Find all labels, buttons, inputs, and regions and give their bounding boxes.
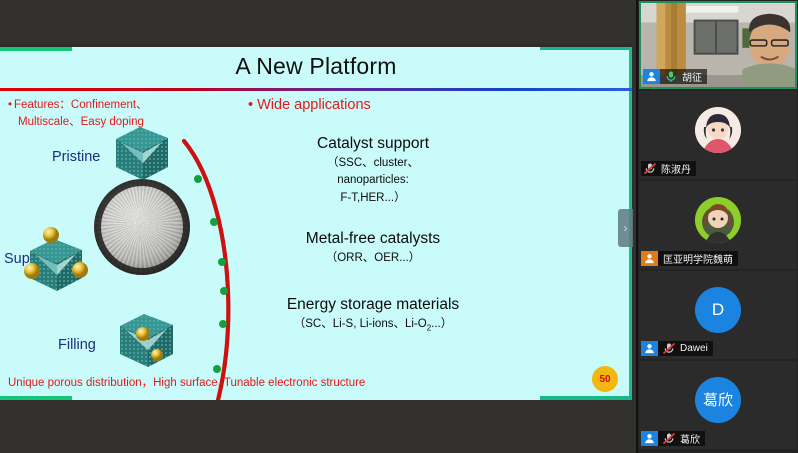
shared-screen-stage: A New Platform •Features：Confinement、 Mu…	[0, 0, 636, 453]
slide-title: A New Platform	[0, 53, 632, 80]
microphone-muted-icon	[662, 342, 677, 356]
participant-name: 胡征	[679, 69, 702, 84]
participant-filmstrip[interactable]: 胡征 陈淑丹	[636, 0, 798, 453]
participant-name-bar: 匡亚明学院魏萌	[641, 251, 738, 266]
cube-supporting-icon	[18, 227, 92, 297]
participant-tile[interactable]: 匡亚明学院魏萌	[639, 181, 797, 269]
participant-name-bar: 胡征	[643, 69, 707, 84]
applications-column: • Wide applications Catalyst support （SS…	[248, 97, 548, 334]
participant-tile[interactable]: D Dawei	[639, 271, 797, 359]
slide-figure: Pristine Supporting Filling	[0, 99, 246, 399]
avatar: 葛欣	[695, 377, 741, 423]
microphone-muted-icon	[643, 162, 658, 176]
slide-caption: Unique porous distribution，High surface,…	[8, 374, 365, 390]
person-icon	[641, 431, 658, 446]
participant-name: 葛欣	[677, 431, 700, 446]
applications-heading-label: Wide applications	[257, 97, 371, 113]
application-title: Catalyst support	[248, 135, 498, 154]
application-block-energy-storage: Energy storage materials （SC、Li-S, Li-io…	[248, 296, 498, 334]
application-block-catalyst-support: Catalyst support （SSC、cluster、 nanoparti…	[248, 135, 498, 206]
application-title: Energy storage materials	[248, 296, 498, 315]
participant-name: 陈淑丹	[658, 161, 691, 176]
application-block-metal-free-catalysts: Metal-free catalysts （ORR、OER...）	[248, 230, 498, 266]
figure-label-pristine: Pristine	[52, 149, 100, 165]
person-icon	[641, 341, 658, 356]
applications-bullet-marker: •	[248, 97, 253, 113]
application-subtitle-post: ...）	[431, 318, 452, 330]
meeting-window: A New Platform •Features：Confinement、 Mu…	[0, 0, 798, 453]
figure-label-filling: Filling	[58, 337, 96, 353]
participant-tile[interactable]: 胡征	[639, 1, 797, 89]
avatar-image	[695, 197, 741, 243]
slide-accent-bottom-right	[540, 396, 632, 400]
chevron-right-icon: ›	[624, 221, 628, 235]
avatar: D	[695, 287, 741, 333]
application-subtitle-pre: （SC、Li-S, Li-ions、Li-O	[294, 318, 427, 330]
collapse-panel-button[interactable]: ›	[618, 209, 633, 247]
application-subtitle-line-3: F-T,HER...）	[248, 191, 498, 207]
title-divider-rule	[0, 88, 632, 91]
application-subtitle-line-1: （ORR、OER...）	[248, 251, 498, 267]
slide-page-number-badge: 50	[592, 366, 618, 392]
microphone-icon	[664, 70, 679, 84]
application-title: Metal-free catalysts	[248, 230, 498, 249]
participant-name-bar: 陈淑丹	[641, 161, 696, 176]
participant-name-bar: 葛欣	[641, 431, 705, 446]
participant-name: Dawei	[677, 343, 708, 354]
avatar	[695, 197, 741, 243]
applications-heading: • Wide applications	[248, 97, 548, 113]
slide-accent-top-left	[0, 47, 72, 51]
participant-tile[interactable]: 陈淑丹	[639, 91, 797, 179]
participant-tile[interactable]: 葛欣 葛欣	[639, 361, 797, 449]
application-subtitle-line-1: （SC、Li-S, Li-ions、Li-O2...）	[248, 317, 498, 334]
application-subtitle-line-2: nanoparticles:	[248, 173, 498, 189]
participant-name: 匡亚明学院魏萌	[660, 251, 733, 266]
participant-name-bar: Dawei	[641, 341, 713, 356]
process-arc	[150, 139, 260, 400]
person-icon	[641, 251, 658, 266]
person-icon	[643, 69, 660, 84]
microphone-muted-icon	[662, 432, 677, 446]
application-subtitle-line-1: （SSC、cluster、	[248, 156, 498, 172]
avatar	[695, 107, 741, 153]
avatar-image	[695, 107, 741, 153]
slide-accent-top-right	[540, 47, 632, 50]
presentation-slide: A New Platform •Features：Confinement、 Mu…	[0, 44, 632, 400]
